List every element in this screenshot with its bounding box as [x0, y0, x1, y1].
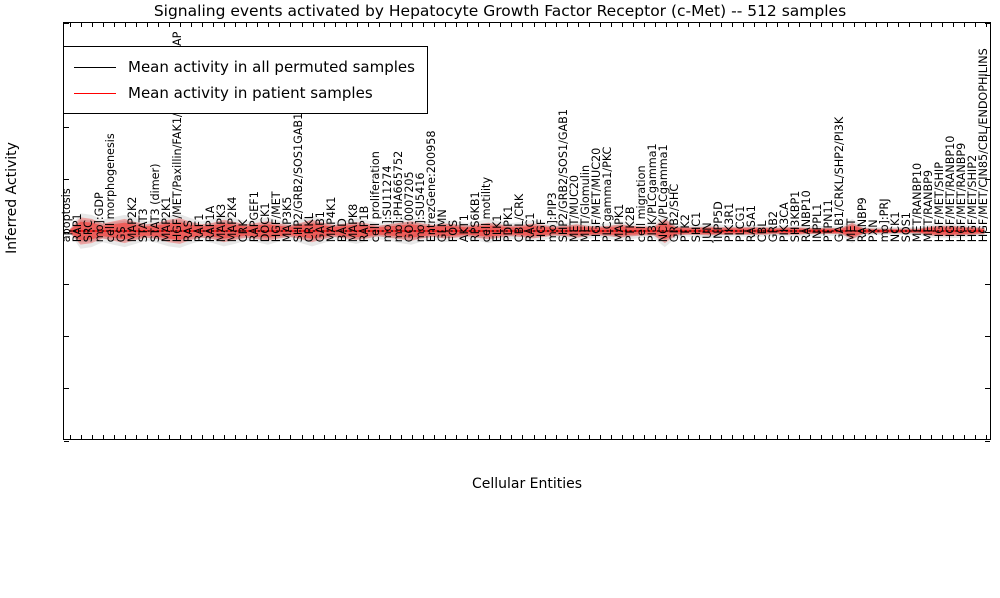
x-category-label: cell proliferation	[370, 151, 381, 242]
legend-label-permuted: Mean activity in all permuted samples	[128, 58, 415, 76]
chart-figure: Signaling events activated by Hepatocyte…	[0, 0, 1000, 500]
legend-line-patient	[74, 93, 116, 94]
x-category-label: PLCgamma1/PKC	[602, 146, 613, 242]
chart-legend: Mean activity in all permuted samples Me…	[63, 46, 428, 114]
x-axis-label: Cellular Entities	[63, 476, 991, 492]
legend-label-patient: Mean activity in patient samples	[128, 84, 373, 102]
x-category-label: HGF/MET/CIN85/CBL/ENDOPHILINS	[978, 48, 989, 242]
legend-entry-patient: Mean activity in patient samples	[74, 80, 415, 106]
chart-title: Signaling events activated by Hepatocyte…	[0, 2, 1000, 20]
y-tick-mark	[985, 441, 990, 442]
y-tick-mark	[64, 441, 69, 442]
x-category-label: GAB1/CRKL/SHP2/PI3K	[834, 117, 845, 242]
legend-entry-permuted: Mean activity in all permuted samples	[74, 54, 415, 80]
x-category-label: STAT3	[138, 208, 149, 242]
legend-line-permuted	[74, 67, 116, 68]
y-axis-label: Inferred Activity	[4, 0, 20, 598]
